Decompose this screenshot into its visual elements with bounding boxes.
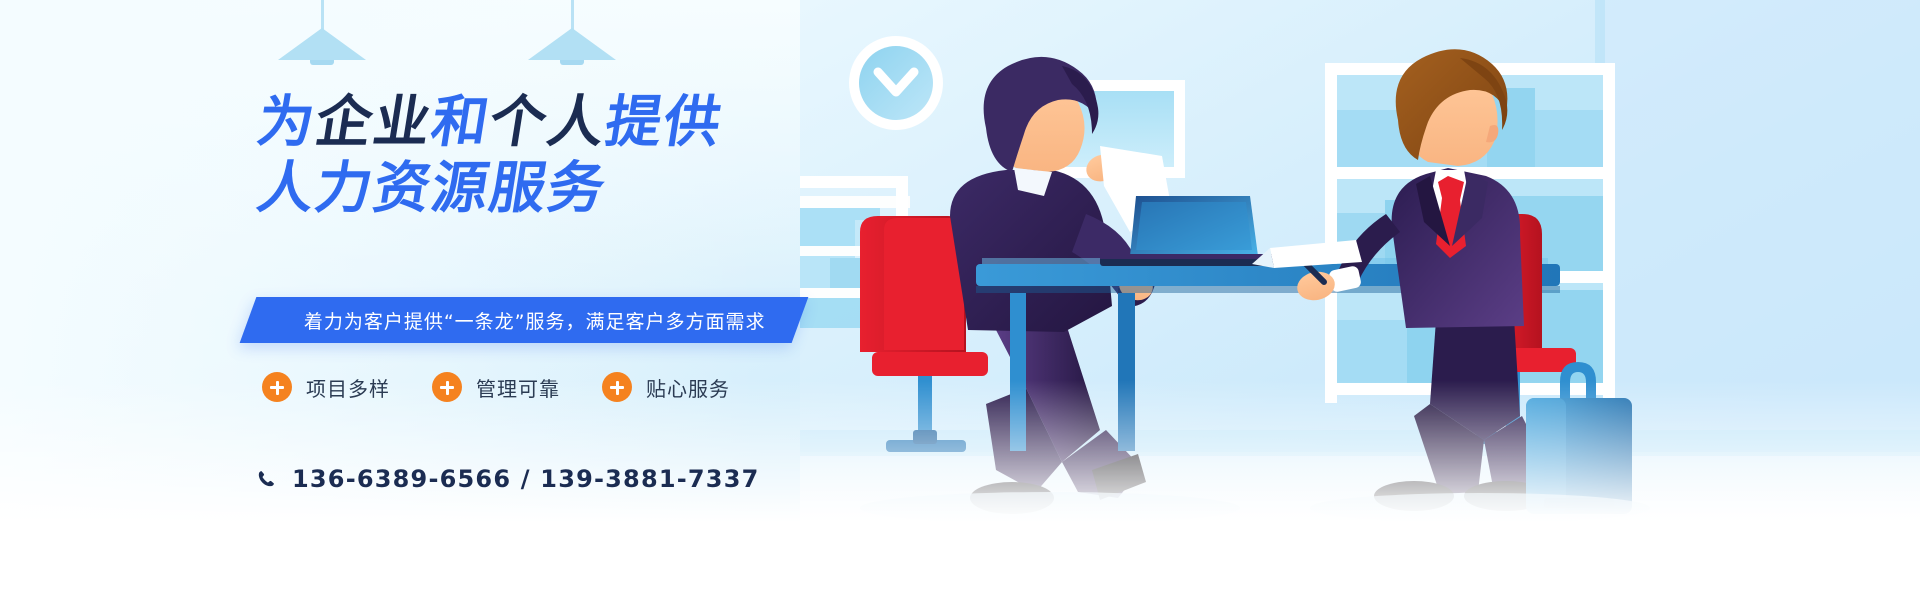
headline-line-1: 为企业和个人提供: [253, 92, 883, 154]
floor-skirting: [800, 430, 1920, 456]
lamp-shade: [528, 28, 616, 60]
lamp-cord: [571, 0, 574, 30]
subtitle-text: 着力为客户提供“一条龙”服务，满足客户多方面需求: [304, 307, 766, 334]
headline-seg: 企业: [311, 92, 437, 154]
headline-line-2: 人力资源服务: [253, 158, 883, 220]
copy-block: 为企业和个人提供 人力资源服务: [258, 92, 878, 220]
lamp-cord: [321, 0, 324, 30]
office-interview-illustration: [800, 0, 1920, 610]
hr-services-banner: 为企业和个人提供 人力资源服务 着力为客户提供“一条龙”服务，满足客户多方面需求…: [0, 0, 1920, 610]
lamp-shade: [278, 28, 366, 60]
feature-label: 项目多样: [306, 373, 390, 402]
plus-icon: [262, 372, 292, 402]
headline-seg: 人力资源服务: [253, 158, 611, 220]
headline-seg: 提供: [601, 92, 727, 154]
subtitle-banner: 着力为客户提供“一条龙”服务，满足客户多方面需求: [240, 297, 808, 343]
lamp-base: [310, 60, 334, 65]
feature-item-2[interactable]: 管理可靠: [432, 372, 560, 402]
feature-item-3[interactable]: 贴心服务: [602, 372, 730, 402]
plus-icon: [432, 372, 462, 402]
contact-phone-row[interactable]: 136-6389-6566 / 139-3881-7337: [256, 465, 760, 493]
headline-seg: 为: [253, 92, 321, 154]
phone-icon: [256, 468, 276, 490]
feature-label: 管理可靠: [476, 373, 560, 402]
lamp-base: [560, 60, 584, 65]
feature-list: 项目多样 管理可靠 贴心服务: [262, 372, 730, 402]
floor: [800, 452, 1920, 610]
plus-icon: [602, 372, 632, 402]
phone-number: 136-6389-6566 / 139-3881-7337: [292, 465, 760, 493]
feature-label: 贴心服务: [646, 373, 730, 402]
feature-item-1[interactable]: 项目多样: [262, 372, 390, 402]
headline-seg: 个人: [485, 92, 611, 154]
headline-seg: 和: [427, 92, 495, 154]
